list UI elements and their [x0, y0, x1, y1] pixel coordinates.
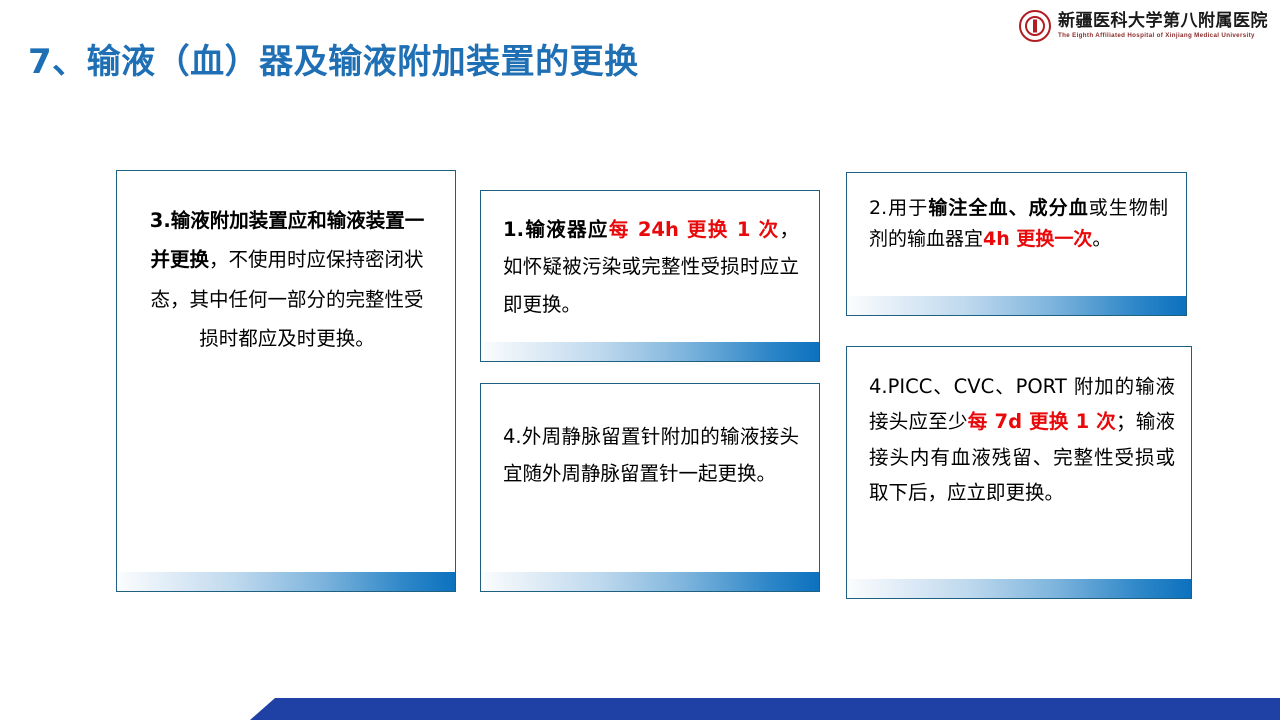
text-run-4: 。 [1092, 228, 1111, 250]
card-body: 2.用于输注全血、成分血或生物制剂的输血器宜4h 更换一次。 [847, 173, 1186, 296]
hospital-logo-text: 新疆医科大学第八附属医院 The Eighth Affiliated Hospi… [1058, 13, 1268, 39]
card-accent-bar [117, 572, 455, 591]
text-run-0: 2.用于 [869, 197, 928, 219]
card-infusion-add-on-device: 3.输液附加装置应和输液装置一并更换，不使用时应保持密闭状态，其中任何一部分的完… [116, 170, 456, 592]
card-picc-cvc-port-7d: 4.PICC、CVC、PORT 附加的输液接头应至少每 7d 更换 1 次；输液… [846, 346, 1192, 599]
card-accent-bar [847, 296, 1186, 315]
card-body: 4.外周静脉留置针附加的输液接头宜随外周静脉留置针一起更换。 [481, 384, 819, 572]
card-body: 4.PICC、CVC、PORT 附加的输液接头应至少每 7d 更换 1 次；输液… [847, 347, 1191, 579]
hospital-name-cn: 新疆医科大学第八附属医院 [1058, 13, 1268, 30]
text-run-1: 每 7d 更换 1 次 [968, 410, 1116, 433]
page-title: 7、输液（血）器及输液附加装置的更换 [28, 34, 639, 83]
card-accent-bar [481, 342, 819, 361]
text-run-0: 1.输液器应 [503, 218, 609, 241]
slide-root: 新疆医科大学第八附属医院 The Eighth Affiliated Hospi… [0, 0, 1280, 720]
card-infusion-set-24h: 1.输液器应每 24h 更换 1 次，如怀疑被污染或完整性受损时应立即更换。 [480, 190, 820, 362]
hospital-name-en: The Eighth Affiliated Hospital of Xinjia… [1058, 33, 1268, 39]
card-blood-transfusion-4h: 2.用于输注全血、成分血或生物制剂的输血器宜4h 更换一次。 [846, 172, 1187, 316]
card-accent-bar [481, 572, 819, 591]
text-run-3: 4h 更换一次 [983, 228, 1092, 250]
card-accent-bar [847, 579, 1191, 598]
card-body: 1.输液器应每 24h 更换 1 次，如怀疑被污染或完整性受损时应立即更换。 [481, 191, 819, 342]
bottom-decorative-bar [0, 698, 1280, 720]
text-run-0: 4.外周静脉留置针附加的输液接头宜随外周静脉留置针一起更换。 [503, 425, 799, 485]
hospital-logo: 新疆医科大学第八附属医院 The Eighth Affiliated Hospi… [1019, 8, 1268, 44]
card-body: 3.输液附加装置应和输液装置一并更换，不使用时应保持密闭状态，其中任何一部分的完… [117, 171, 455, 572]
text-run-1: 每 24h 更换 1 次 [609, 218, 780, 241]
hospital-seal-icon [1019, 10, 1051, 42]
card-peripheral-catheter-connector: 4.外周静脉留置针附加的输液接头宜随外周静脉留置针一起更换。 [480, 383, 820, 592]
text-run-1: 输注全血、成分血 [928, 197, 1088, 219]
